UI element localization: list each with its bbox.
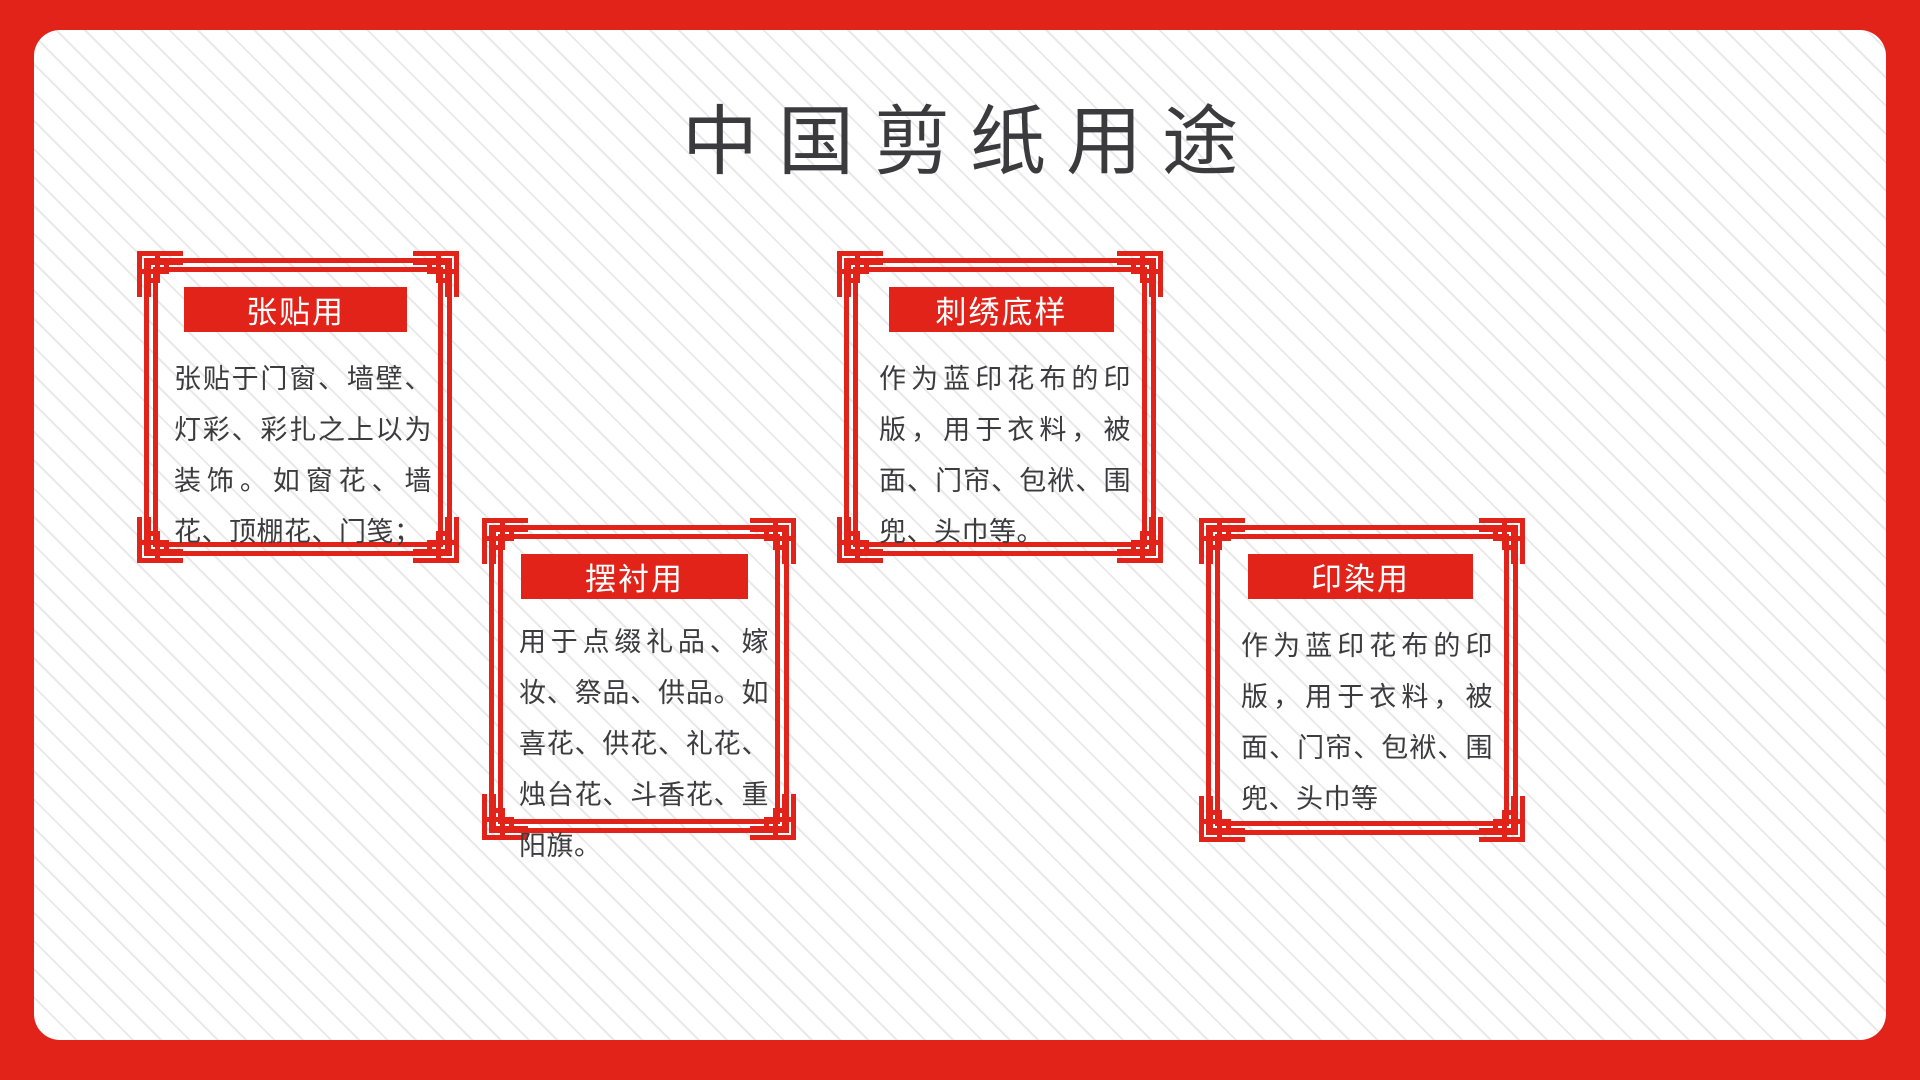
- card-body-text: 作为蓝印花布的印版，用于衣料，被面、门帘、包袱、围兜、头巾等。: [879, 354, 1131, 558]
- card-header-banner: 张贴用: [184, 287, 407, 332]
- page-title: 中国剪纸用途: [34, 102, 1886, 186]
- card-body-text: 用于点缀礼品、嫁妆、祭品、供品。如喜花、供花、礼花、烛台花、斗香花、重阳旗。: [519, 617, 769, 872]
- card-header-label: 刺绣底样: [936, 287, 1068, 332]
- card-header-label: 印染用: [1311, 554, 1410, 599]
- slide-stage: 中国剪纸用途: [0, 0, 1920, 1080]
- card-header-banner: 摆衬用: [521, 554, 748, 599]
- card-yinranyong[interactable]: 印染用 作为蓝印花布的印版，用于衣料，被面、门帘、包袱、围兜、头巾等: [1206, 525, 1518, 835]
- card-header-label: 摆衬用: [585, 554, 684, 599]
- card-baichenyong[interactable]: 摆衬用 用于点缀礼品、嫁妆、祭品、供品。如喜花、供花、礼花、烛台花、斗香花、重阳…: [489, 525, 789, 833]
- card-body-text: 作为蓝印花布的印版，用于衣料，被面、门帘、包袱、围兜、头巾等: [1241, 621, 1493, 825]
- card-header-banner: 刺绣底样: [889, 287, 1114, 332]
- slide-panel: 中国剪纸用途: [34, 30, 1886, 1040]
- card-zhangtieyong[interactable]: 张贴用 张贴于门窗、墙壁、灯彩、彩扎之上以为装饰。如窗花、墙花、顶棚花、门笺；: [144, 258, 452, 556]
- card-body-text: 张贴于门窗、墙壁、灯彩、彩扎之上以为装饰。如窗花、墙花、顶棚花、门笺；: [174, 354, 432, 558]
- card-header-banner: 印染用: [1248, 554, 1473, 599]
- card-cixiudiyang[interactable]: 刺绣底样 作为蓝印花布的印版，用于衣料，被面、门帘、包袱、围兜、头巾等。: [844, 258, 1156, 556]
- card-header-label: 张贴用: [246, 287, 345, 332]
